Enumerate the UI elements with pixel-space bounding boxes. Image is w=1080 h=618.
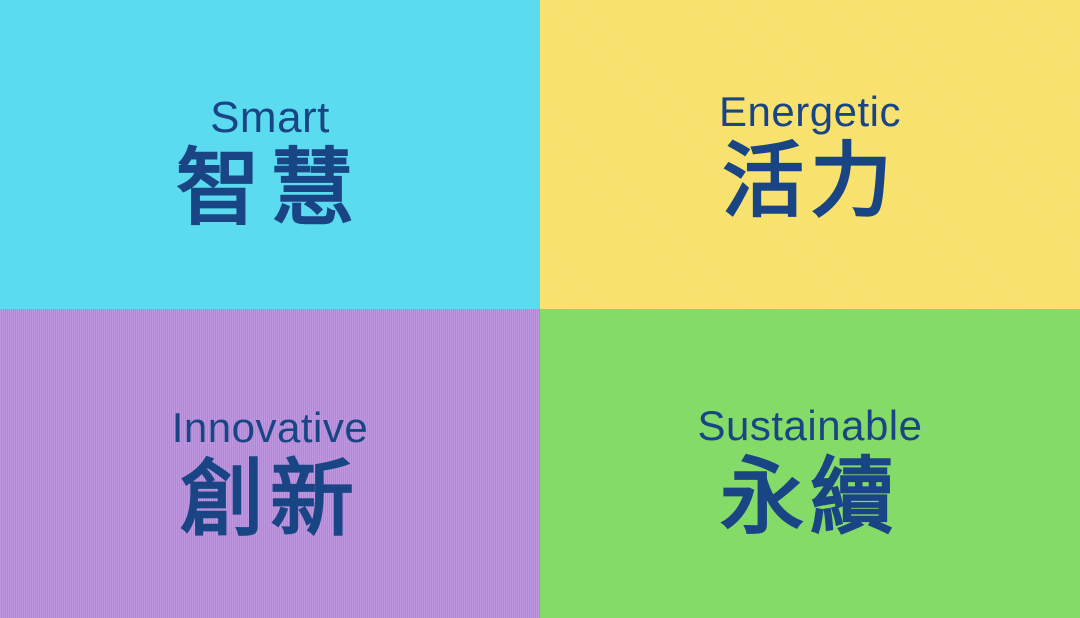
quadrant-energetic-label-en: Energetic	[719, 91, 901, 133]
brand-values-poster: Smart 智慧 Energetic 活力 Innovative 創新 Sust…	[0, 0, 1080, 618]
quadrant-innovative-label-en: Innovative	[172, 407, 368, 449]
quadrant-smart-label-en: Smart	[210, 96, 330, 140]
quadrant-sustainable-text: Sustainable 永續	[698, 405, 923, 539]
quadrant-smart-label-zh: 智慧	[176, 146, 364, 230]
quadrant-smart-text: Smart 智慧	[176, 96, 364, 230]
quadrant-sustainable-label-en: Sustainable	[698, 405, 923, 447]
quadrant-smart: Smart 智慧	[0, 0, 540, 309]
quadrant-energetic: Energetic 活力	[540, 0, 1080, 309]
quadrant-innovative: Innovative 創新	[0, 309, 540, 618]
quadrant-energetic-label-zh: 活力	[722, 141, 898, 223]
quadrant-sustainable-label-zh: 永續	[720, 455, 900, 539]
quadrant-innovative-label-zh: 創新	[180, 457, 360, 541]
quadrant-innovative-text: Innovative 創新	[172, 407, 368, 541]
quadrant-energetic-text: Energetic 活力	[719, 91, 901, 223]
quadrant-sustainable: Sustainable 永續	[540, 309, 1080, 618]
